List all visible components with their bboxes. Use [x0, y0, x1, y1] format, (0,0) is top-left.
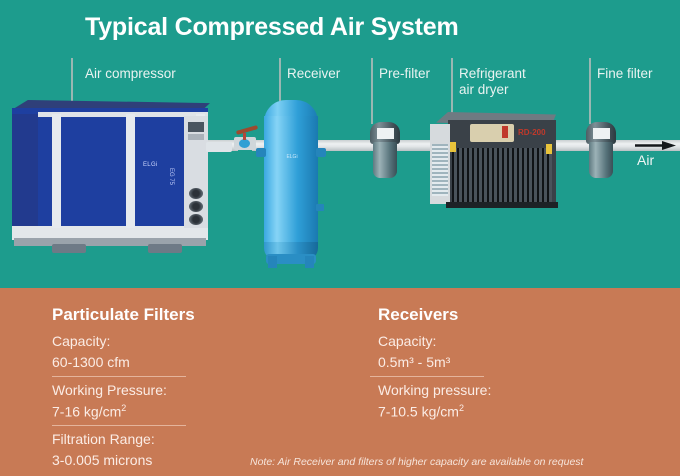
leader-line-fine-filter [589, 58, 591, 124]
particulate-filtration-label: Filtration Range: [52, 431, 155, 447]
receiver-brand-logo: ELGi [278, 154, 306, 160]
fine-filter-unit [586, 122, 616, 184]
compressor-display-screen [188, 122, 204, 132]
receiver-tank: ELGi [262, 100, 320, 268]
pre-filter-unit [370, 122, 400, 184]
receivers-pressure-value-text: 7-10.5 kg/cm [378, 404, 459, 420]
receivers-pressure-value: 7-10.5 kg/cm2 [378, 403, 464, 420]
receiver-lug-right [316, 148, 326, 157]
valve-ball [239, 139, 250, 148]
leader-line-refrigerant-air-dryer [451, 58, 453, 116]
callout-refrigerant-air-dryer-line1: Refrigerant [459, 66, 526, 81]
receivers-capacity-label: Capacity: [378, 333, 436, 349]
particulate-filters-heading: Particulate Filters [52, 305, 195, 325]
particulate-pressure-value-text: 7-16 kg/cm [52, 404, 121, 420]
air-flow-arrow-icon [634, 140, 676, 151]
compressor-outlet-duct [206, 142, 232, 152]
receivers-pressure-superscript: 2 [459, 403, 464, 413]
particulate-capacity-label: Capacity: [52, 333, 110, 349]
compressor-foot-1 [52, 244, 86, 253]
compressor-vent-1 [189, 188, 203, 199]
particulate-divider-1 [52, 376, 186, 377]
compressor-door-post-1 [52, 114, 61, 228]
receivers-pressure-label: Working pressure: [378, 382, 491, 398]
footnote: Note: Air Receiver and filters of higher… [250, 456, 583, 468]
compressor-foot-2 [148, 244, 182, 253]
dryer-condenser-coil [432, 144, 448, 196]
compressor-cabinet [12, 108, 208, 240]
refrigerant-air-dryer-unit: RD-200 [430, 112, 560, 210]
valve-stem [243, 133, 246, 140]
particulate-pressure-label: Working Pressure: [52, 382, 167, 398]
pre-filter-nameplate [377, 128, 394, 139]
specifications-panel: Particulate Filters Capacity: 60-1300 cf… [0, 288, 680, 476]
particulate-divider-2 [52, 425, 186, 426]
compressor-top-rail [38, 112, 208, 117]
dryer-front-grille [452, 148, 552, 202]
dryer-power-button [502, 126, 508, 138]
valve-handle [236, 125, 258, 135]
particulate-pressure-value: 7-16 kg/cm2 [52, 403, 126, 420]
compressor-model-label: EG 75 [168, 168, 174, 185]
callout-refrigerant-air-dryer-line2: air dryer [459, 82, 509, 97]
callout-air-compressor: Air compressor [85, 66, 176, 81]
callout-receiver: Receiver [287, 66, 340, 81]
fine-filter-bowl [589, 142, 613, 178]
compressor-keypad [188, 134, 204, 140]
leader-line-receiver [279, 58, 281, 102]
pre-filter-bowl [373, 142, 397, 178]
air-flow-label: Air [637, 152, 654, 168]
air-compressor-unit: ELGi EG 75 [8, 100, 220, 248]
fine-filter-nameplate [593, 128, 610, 139]
compressor-vent-2 [189, 201, 203, 212]
leader-line-pre-filter [371, 58, 373, 124]
callout-pre-filter: Pre-filter [379, 66, 430, 81]
compressor-door-post-2 [126, 114, 135, 228]
receiver-drain-nozzle [316, 204, 324, 211]
particulate-pressure-superscript: 2 [121, 403, 126, 413]
infographic-page: Typical Compressed Air System Air compre… [0, 0, 680, 476]
receiver-shell [264, 116, 318, 248]
receiver-lug-left [256, 148, 266, 157]
dryer-model-label: RD-200 [518, 128, 546, 137]
compressor-side-panel [12, 114, 38, 236]
page-title: Typical Compressed Air System [85, 13, 459, 42]
dryer-base [446, 202, 558, 208]
particulate-capacity-value: 60-1300 cfm [52, 354, 130, 370]
particulate-filtration-value: 3-0.005 microns [52, 452, 152, 468]
diagram-panel: Typical Compressed Air System Air compre… [0, 0, 680, 288]
receivers-heading: Receivers [378, 305, 458, 325]
dryer-corner-tab-right [546, 144, 552, 154]
dryer-corner-tab-left [450, 142, 456, 152]
callout-fine-filter: Fine filter [597, 66, 653, 81]
receiver-leg-1 [268, 256, 277, 268]
compressor-vent-3 [189, 214, 203, 225]
ball-valve [230, 124, 260, 150]
receiver-leg-2 [305, 256, 314, 268]
compressor-brand-logo: ELGi [143, 162, 158, 168]
receivers-divider-1 [370, 376, 484, 377]
receivers-capacity-value: 0.5m³ - 5m³ [378, 354, 450, 370]
